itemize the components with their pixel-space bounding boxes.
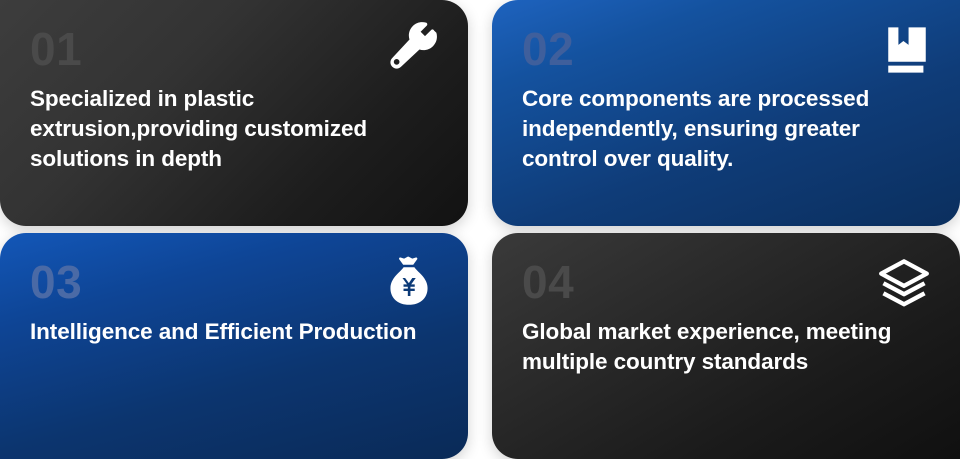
card-text: Global market experience, meeting multip…	[522, 317, 930, 377]
card-text: Intelligence and Efficient Production	[30, 317, 438, 347]
layers-icon	[876, 257, 932, 313]
feature-card-grid: 01 Specialized in plastic extrusion,prov…	[0, 0, 960, 459]
feature-card-01[interactable]: 01 Specialized in plastic extrusion,prov…	[0, 0, 468, 226]
card-number: 01	[30, 26, 438, 72]
money-bag-yen-icon	[382, 255, 436, 309]
feature-card-02[interactable]: 02 Core components are processed indepen…	[492, 0, 960, 226]
book-bookmark-icon	[882, 25, 932, 75]
card-number: 03	[30, 259, 438, 305]
card-number: 02	[522, 26, 930, 72]
card-number: 04	[522, 259, 930, 305]
card-text: Core components are processed independen…	[522, 84, 930, 174]
card-text: Specialized in plastic extrusion,providi…	[30, 84, 438, 174]
wrench-icon	[386, 22, 438, 74]
feature-card-04[interactable]: 04 Global market experience, meeting mul…	[492, 233, 960, 459]
feature-card-03[interactable]: 03 Intelligence and Efficient Production	[0, 233, 468, 459]
